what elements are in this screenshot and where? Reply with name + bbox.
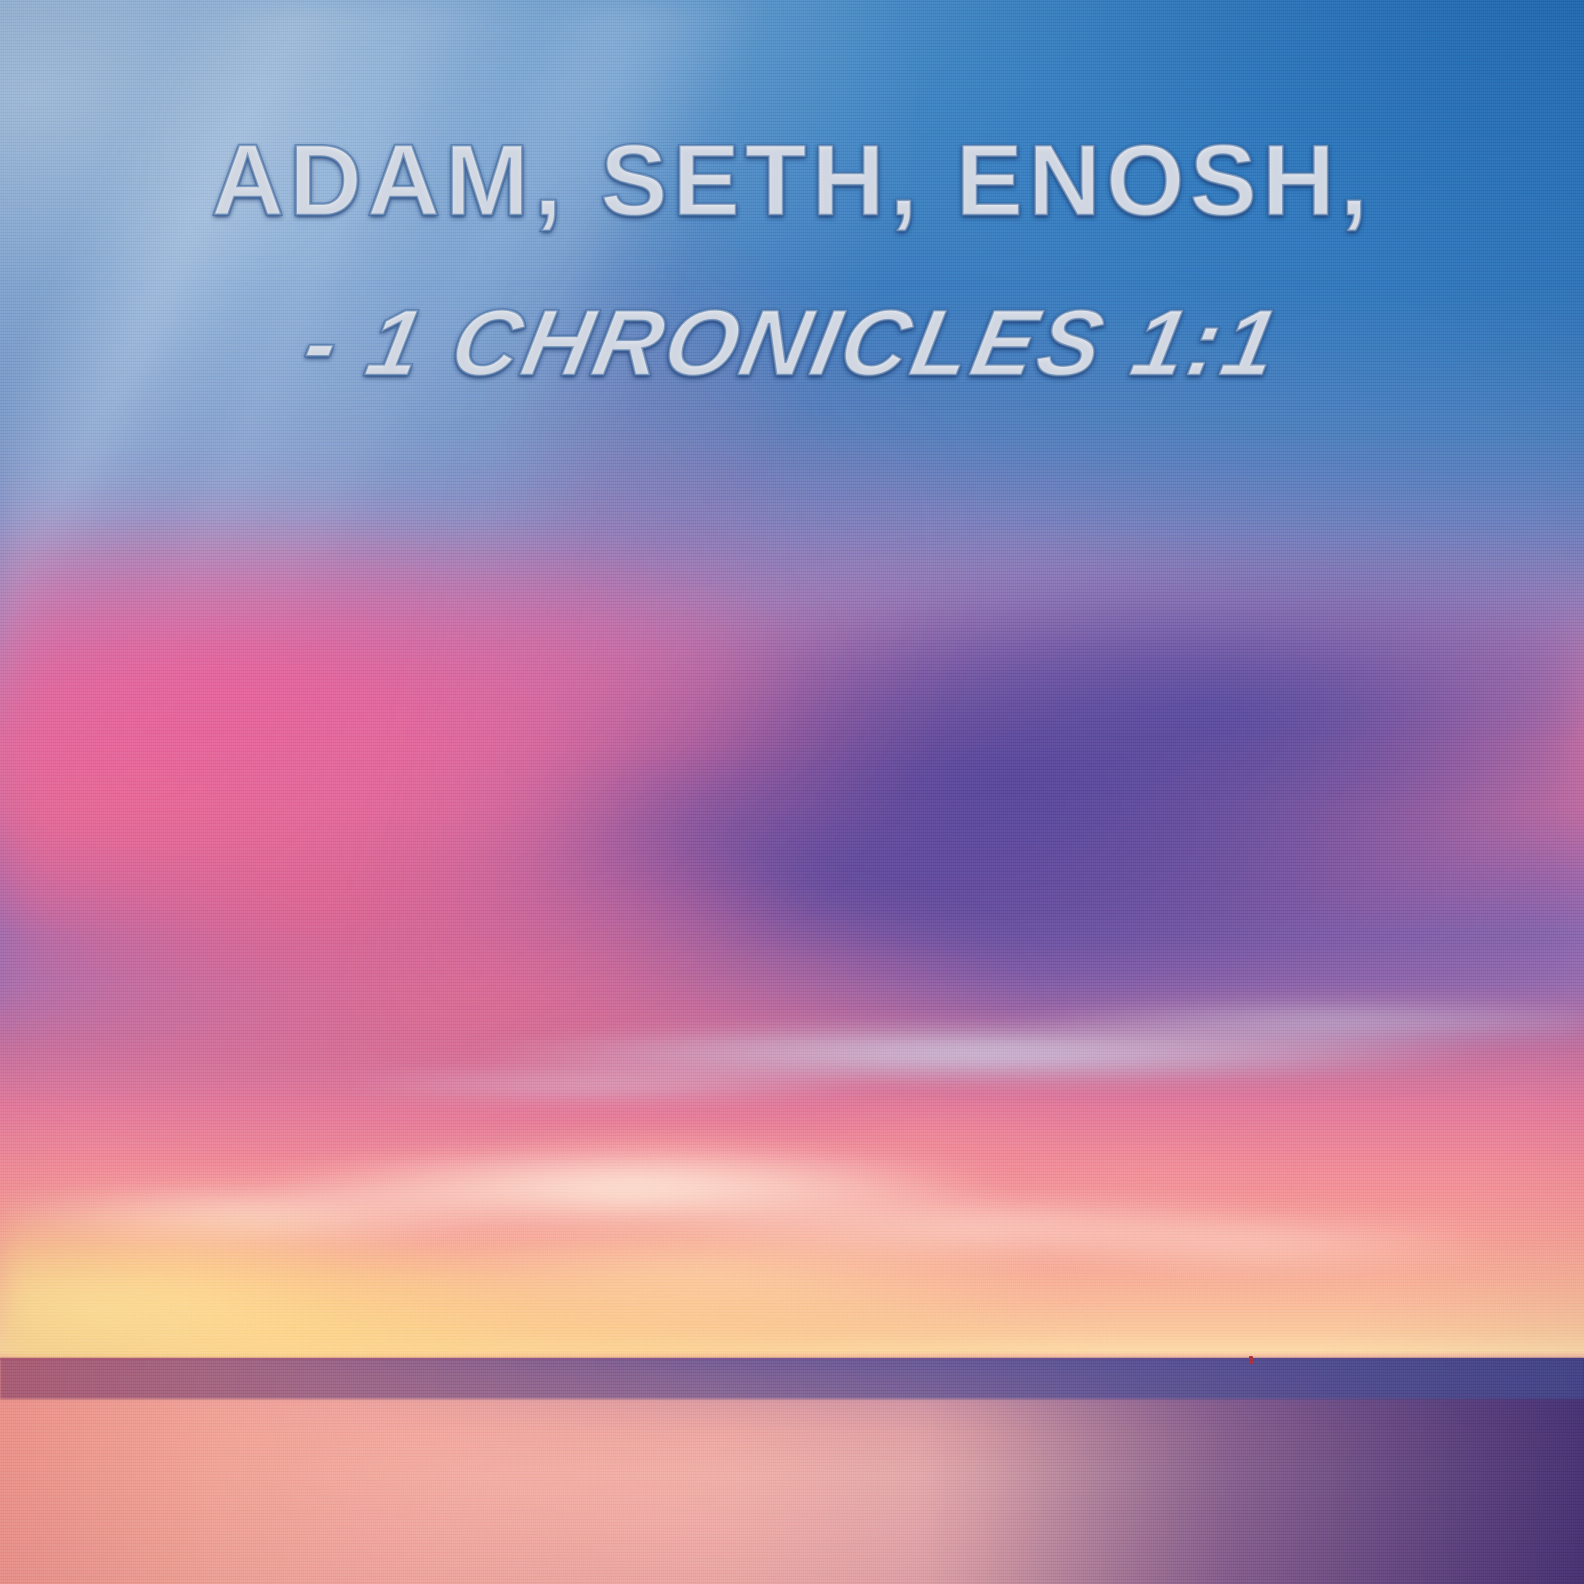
horizon-line (0, 1358, 1584, 1360)
verse-line-1: Adam, Seth, Enosh, (0, 128, 1584, 235)
ocean-dark-band (0, 1358, 1584, 1399)
verse-reference-text: - 1 Chronicles 1:1 (296, 293, 1289, 393)
verse-line-1-text: Adam, Seth, Enosh, (211, 128, 1373, 235)
horizon-speck-marker (1249, 1356, 1253, 1364)
verse-overlay: Adam, Seth, Enosh, - 1 Chronicles 1:1 (0, 128, 1584, 393)
verse-reference-line: - 1 Chronicles 1:1 (0, 293, 1584, 393)
verse-image-canvas: Adam, Seth, Enosh, - 1 Chronicles 1:1 (0, 0, 1584, 1584)
